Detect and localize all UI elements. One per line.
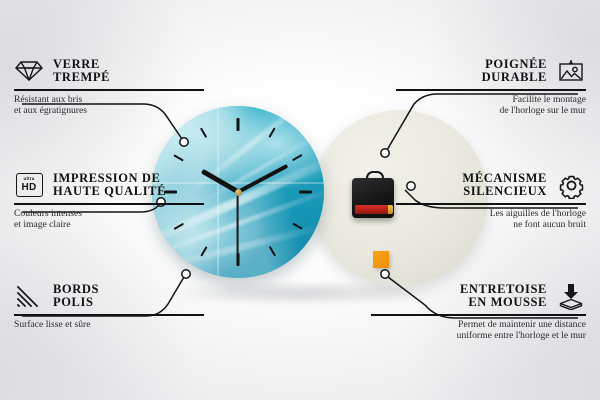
feature-header: POIGNÉE DURABLE: [396, 56, 586, 86]
foam-spacer-icon: [556, 281, 586, 311]
clock-tick: [299, 191, 312, 194]
clock-tick: [237, 253, 240, 266]
feature-impression-hd: ultra HD IMPRESSION DE HAUTE QUALITÉ Cou…: [14, 170, 204, 230]
feature-title: VERRE TREMPÉ: [53, 58, 110, 85]
clock-center-cap: [235, 189, 242, 196]
feature-header: ENTRETOISE EN MOUSSE: [371, 281, 586, 311]
feature-divider: [371, 314, 586, 316]
feature-entretoise-mousse: ENTRETOISE EN MOUSSE Permet de maintenir…: [371, 281, 586, 341]
polished-edges-icon: [14, 281, 44, 311]
feature-bords-polis: BORDS POLIS Surface lisse et sûre: [14, 281, 204, 330]
picture-hanger-icon: [556, 56, 586, 86]
feature-verre-trempe: VERRE TREMPÉ Résistant aux bris et aux é…: [14, 56, 204, 116]
feature-title-line1: MÉCANISME: [462, 172, 547, 186]
feature-title-line2: DURABLE: [482, 71, 547, 85]
feature-desc-line2: uniforme entre l'horloge et le mur: [371, 330, 586, 341]
feature-poignee-durable: POIGNÉE DURABLE Facilite le montage de l…: [396, 56, 586, 116]
feature-title: BORDS POLIS: [53, 283, 99, 310]
feature-divider: [14, 203, 204, 205]
feature-header: VERRE TREMPÉ: [14, 56, 204, 86]
clock-second-hand: [237, 192, 239, 254]
feature-desc-line2: de l'horloge sur le mur: [396, 105, 586, 116]
feature-title-line2: EN MOUSSE: [460, 296, 547, 310]
feature-divider: [14, 314, 204, 316]
infographic-canvas: VERRE TREMPÉ Résistant aux bris et aux é…: [0, 0, 600, 400]
feature-title: POIGNÉE DURABLE: [482, 58, 547, 85]
feature-desc-line2: et image claire: [14, 219, 204, 230]
feature-description: Résistant aux bris et aux égratignures: [14, 94, 204, 117]
feature-desc-line1: Facilite le montage: [396, 94, 586, 105]
feature-description: Permet de maintenir une distance uniform…: [371, 319, 586, 342]
feature-divider: [396, 89, 586, 91]
feature-header: MÉCANISME SILENCIEUX: [396, 170, 586, 200]
feature-header: BORDS POLIS: [14, 281, 204, 311]
feature-desc-line1: Les aiguilles de l'horloge: [396, 208, 586, 219]
feature-title: IMPRESSION DE HAUTE QUALITÉ: [53, 172, 166, 199]
feature-description: Les aiguilles de l'horloge ne font aucun…: [396, 208, 586, 231]
feature-description: Couleurs intenses et image claire: [14, 208, 204, 231]
battery: [355, 205, 391, 214]
feature-desc-line2: et aux égratignures: [14, 105, 204, 116]
battery-terminal: [388, 205, 393, 214]
feature-description: Surface lisse et sûre: [14, 319, 204, 330]
feature-desc-line1: Surface lisse et sûre: [14, 319, 204, 330]
feature-title-line1: VERRE: [53, 58, 110, 72]
feature-header: ultra HD IMPRESSION DE HAUTE QUALITÉ: [14, 170, 204, 200]
feature-title: MÉCANISME SILENCIEUX: [462, 172, 547, 199]
feature-desc-line1: Permet de maintenir une distance: [371, 319, 586, 330]
feature-description: Facilite le montage de l'horloge sur le …: [396, 94, 586, 117]
feature-title-line2: POLIS: [53, 296, 99, 310]
feature-divider: [396, 203, 586, 205]
feature-title-line1: IMPRESSION DE: [53, 172, 166, 186]
feature-title-line1: BORDS: [53, 283, 99, 297]
feature-mecanisme-silencieux: MÉCANISME SILENCIEUX Les aiguilles de l'…: [396, 170, 586, 230]
feature-divider: [14, 89, 204, 91]
feature-title-line2: SILENCIEUX: [462, 185, 547, 199]
feature-desc-line1: Résistant aux bris: [14, 94, 204, 105]
diamond-icon: [14, 56, 44, 86]
ultra-hd-big-label: HD: [21, 183, 36, 193]
ultra-hd-box: ultra HD: [16, 173, 43, 197]
gear-icon: [556, 170, 586, 200]
clock-tick: [237, 118, 240, 131]
ultra-hd-icon: ultra HD: [14, 170, 44, 200]
feature-title-line1: POIGNÉE: [482, 58, 547, 72]
feature-title-line2: HAUTE QUALITÉ: [53, 185, 166, 199]
foam-spacer: [373, 251, 389, 268]
feature-title: ENTRETOISE EN MOUSSE: [460, 283, 547, 310]
feature-title-line1: ENTRETOISE: [460, 283, 547, 297]
feature-title-line2: TREMPÉ: [53, 71, 110, 85]
feature-desc-line1: Couleurs intenses: [14, 208, 204, 219]
feature-desc-line2: ne font aucun bruit: [396, 219, 586, 230]
